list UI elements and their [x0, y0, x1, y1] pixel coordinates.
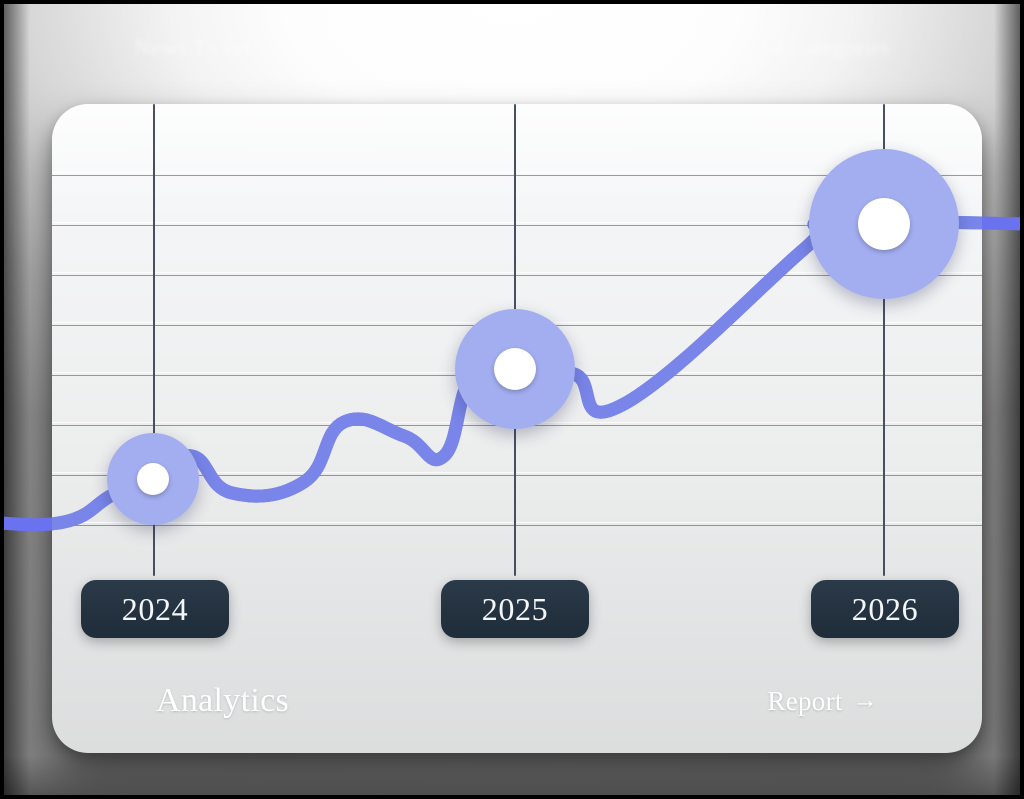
screenshot-root: News Ticker Seasonal Ads Content Offerin…	[0, 0, 1024, 799]
chart-gridline-highlight	[52, 522, 982, 523]
report-link-label: Report	[767, 686, 842, 717]
year-pill-label-2026: 2026	[852, 591, 918, 628]
nav-item-ad-categories[interactable]: Ad Categories	[755, 35, 890, 61]
year-pill-2024[interactable]: 2024	[81, 580, 229, 638]
nav-item-seasonal-ads[interactable]: Seasonal Ads	[325, 35, 451, 61]
data-point-2025[interactable]	[455, 309, 575, 429]
report-link[interactable]: Report →	[767, 686, 878, 717]
page-title: Analytics	[156, 682, 289, 720]
arrow-right-icon: →	[853, 687, 878, 715]
data-point-core-2024	[137, 463, 169, 495]
data-point-2026[interactable]	[809, 149, 959, 299]
year-pill-2026[interactable]: 2026	[811, 580, 959, 638]
nav-item-news-ticker[interactable]: News Ticker	[134, 35, 253, 61]
data-point-2024[interactable]	[107, 433, 199, 525]
year-pill-2025[interactable]: 2025	[441, 580, 589, 638]
year-pill-label-2024: 2024	[122, 591, 188, 628]
data-point-core-2026	[858, 198, 910, 250]
chart-gridline	[52, 525, 982, 526]
page-background: News Ticker Seasonal Ads Content Offerin…	[4, 4, 1020, 795]
year-pill-label-2025: 2025	[482, 591, 548, 628]
top-navigation: News Ticker Seasonal Ads Content Offerin…	[4, 4, 1020, 96]
nav-item-content-offering[interactable]: Content Offering	[523, 35, 684, 61]
data-point-core-2025	[494, 348, 536, 390]
card-footer: Analytics Report →	[52, 677, 982, 725]
